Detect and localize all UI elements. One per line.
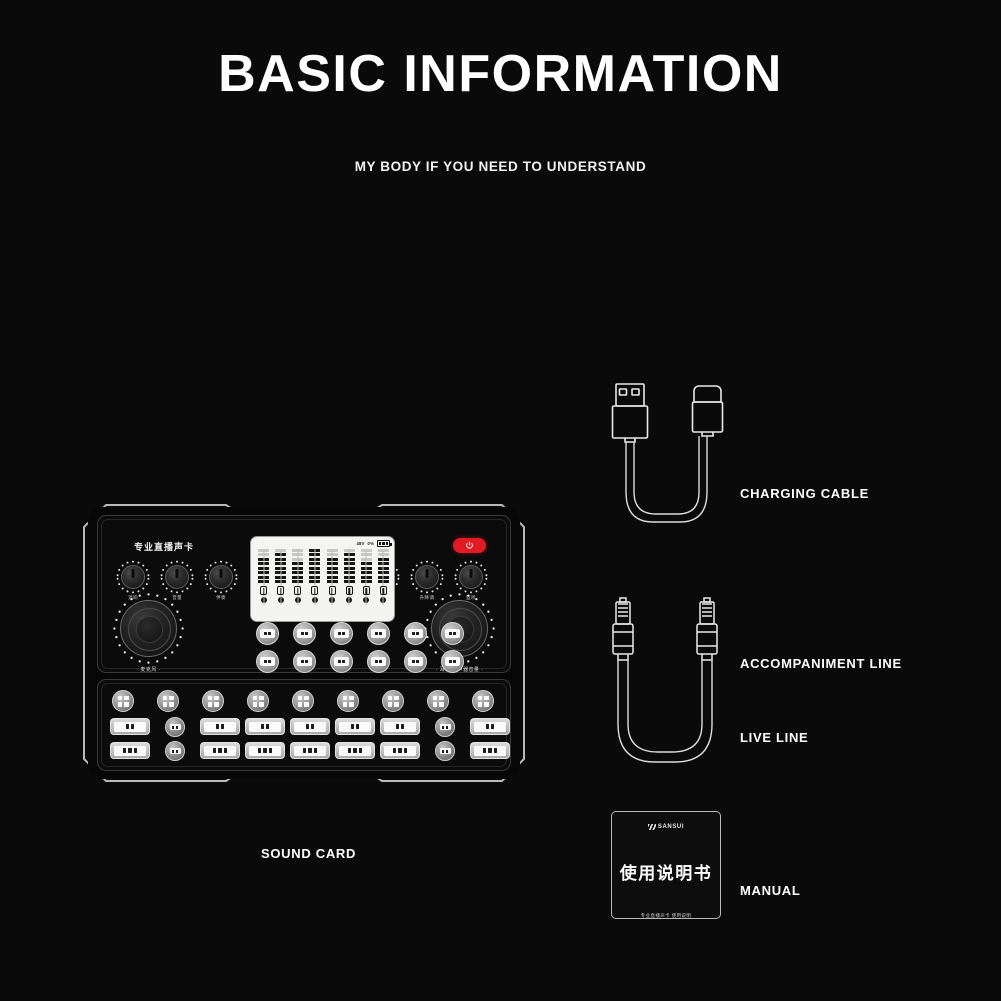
bottom-circle-button[interactable]: [382, 690, 404, 712]
logo-mark-icon: [648, 824, 656, 830]
button-glyph: [298, 696, 303, 701]
pad-glyph: [266, 724, 269, 728]
pad-glyph: [134, 748, 137, 752]
pad-glyph: [305, 660, 307, 663]
pad-glyph: [412, 632, 414, 635]
button-glyph: [176, 726, 178, 729]
knob-cap: [415, 565, 439, 589]
pad-glyph: [261, 724, 264, 728]
jog-knob-cap: [120, 600, 177, 657]
pad-glyph: [269, 748, 272, 752]
pad-glyph: [351, 724, 354, 728]
button-glyph: [442, 726, 444, 729]
lcd-channel-strip: [343, 549, 356, 619]
button-glyph-grid: [118, 696, 129, 707]
cable-path: [626, 436, 707, 522]
pad-glyph: [353, 748, 356, 752]
bottom-circle-button[interactable]: [157, 690, 179, 712]
pad-glyph: [398, 748, 401, 752]
button-glyph: [163, 696, 168, 701]
lcd-fader-track: [314, 549, 315, 605]
pad-glyph: [218, 748, 221, 752]
lcd-fader-handle[interactable]: [329, 586, 336, 595]
sound-card-device: 专业直播声卡: [76, 497, 532, 789]
bottom-rect-pad[interactable]: [290, 742, 330, 759]
bottom-rect-pad[interactable]: [200, 742, 240, 759]
effect-pad-button[interactable]: [441, 622, 464, 645]
button-glyph: [433, 696, 438, 701]
manual-cover-footer: 专业直播声卡 使用说明: [641, 913, 692, 919]
pad-glyph: [488, 748, 491, 752]
jog-knob-label: · 麦克风 ·: [137, 666, 161, 673]
pad-glyph: [379, 660, 381, 663]
pad-face: [297, 629, 312, 638]
pad-glyph: [494, 748, 497, 752]
pad-glyph: [379, 632, 381, 635]
bottom-rect-pad[interactable]: [335, 718, 375, 735]
button-glyph: [124, 696, 129, 701]
pad-face: [294, 722, 326, 732]
button-glyph: [298, 702, 303, 707]
button-glyph: [208, 702, 213, 707]
knob-cap: [121, 565, 145, 589]
pad-face: [445, 657, 460, 666]
pad-glyph: [453, 660, 455, 663]
lcd-channel-strip: [257, 549, 270, 619]
bottom-circle-button[interactable]: [292, 690, 314, 712]
effect-pad-button[interactable]: [404, 650, 427, 673]
knob-accompaniment[interactable]: 伴奏: [204, 560, 238, 594]
manual-label: MANUAL: [740, 883, 801, 898]
manual-cover: SANSUI 使用说明书 专业直播声卡 使用说明: [611, 811, 721, 919]
bottom-rect-pad[interactable]: [290, 718, 330, 735]
charging-cable-label: CHARGING CABLE: [740, 486, 869, 501]
bottom-rect-pad[interactable]: [380, 718, 420, 735]
pad-glyph: [268, 660, 270, 663]
pad-glyph: [348, 748, 351, 752]
button-glyph: [118, 702, 123, 707]
power-icon: [465, 541, 474, 550]
button-glyph-grid: [433, 696, 444, 707]
pad-face: [339, 722, 371, 732]
pad-glyph: [453, 632, 455, 635]
bottom-circle-button[interactable]: [202, 690, 224, 712]
lcd-channel-strips: [257, 549, 390, 619]
sound-card-label: SOUND CARD: [261, 846, 356, 861]
pad-glyph: [311, 724, 314, 728]
button-glyph: [163, 702, 168, 707]
button-glyph: [439, 696, 444, 701]
pad-glyph: [301, 660, 303, 663]
pad-glyph: [486, 724, 489, 728]
lcd-fader-track: [332, 549, 333, 605]
pad-face: [334, 657, 349, 666]
pad-glyph: [123, 748, 126, 752]
bottom-circle-button[interactable]: [337, 690, 359, 712]
pad-face: [371, 657, 386, 666]
button-glyph-grid: [298, 696, 309, 707]
button-glyph: [214, 696, 219, 701]
bottom-small-circle-button[interactable]: [165, 741, 185, 761]
jog-knob-microphone[interactable]: · 麦克风 ·: [112, 592, 185, 665]
button-face: [170, 748, 181, 754]
button-glyph: [446, 726, 448, 729]
lcd-channel-strip: [326, 549, 339, 619]
lcd-fader-track: [263, 549, 264, 605]
pad-face: [408, 629, 423, 638]
pad-glyph: [342, 632, 344, 635]
lcd-fader-handle[interactable]: [363, 586, 370, 595]
bottom-rect-pad[interactable]: [110, 718, 150, 735]
pad-face: [260, 657, 275, 666]
button-glyph: [176, 750, 178, 753]
button-glyph: [388, 702, 393, 707]
bottom-rect-pad[interactable]: [245, 742, 285, 759]
pad-face: [297, 657, 312, 666]
pad-glyph: [375, 632, 377, 635]
knob-cap: [209, 565, 233, 589]
pad-glyph: [416, 660, 418, 663]
knob-reverb[interactable]: 混响: [116, 560, 150, 594]
pad-glyph: [342, 660, 344, 663]
bottom-rect-pad[interactable]: [245, 718, 285, 735]
pad-glyph: [483, 748, 486, 752]
button-glyph: [478, 696, 483, 701]
pad-glyph: [401, 724, 404, 728]
pad-face: [260, 629, 275, 638]
button-glyph: [124, 702, 129, 707]
pad-glyph: [404, 748, 407, 752]
pad-glyph: [221, 724, 224, 728]
button-face: [170, 724, 181, 730]
device-bottom-panel: [97, 679, 511, 771]
page-subtitle: MY BODY IF YOU NEED TO UNDERSTAND: [0, 159, 1001, 174]
button-face: [440, 724, 451, 730]
lcd-channel-strip: [308, 549, 321, 619]
trrs-connector-right: [697, 598, 717, 660]
effect-pad-button[interactable]: [367, 650, 390, 673]
charging-cable-graphic: [596, 372, 738, 532]
button-glyph-grid: [388, 696, 399, 707]
pad-glyph: [224, 748, 227, 752]
button-glyph: [304, 696, 309, 701]
button-glyph: [478, 702, 483, 707]
pad-glyph: [306, 724, 309, 728]
pad-glyph: [131, 724, 134, 728]
bottom-small-circle-button[interactable]: [435, 717, 455, 737]
pad-glyph: [264, 660, 266, 663]
effect-pad-button[interactable]: [330, 650, 353, 673]
button-glyph: [172, 750, 174, 753]
pad-glyph: [301, 632, 303, 635]
button-glyph-grid: [253, 696, 264, 707]
lcd-channel-strip: [377, 549, 390, 619]
lcd-fader-handle[interactable]: [311, 586, 318, 595]
usb-a-connector: [613, 384, 648, 442]
pad-glyph: [126, 724, 129, 728]
pad-glyph: [491, 724, 494, 728]
button-face: [440, 748, 451, 754]
pad-glyph: [338, 660, 340, 663]
pad-glyph: [268, 632, 270, 635]
audio-cable-graphic: [596, 592, 738, 774]
effect-pad-button[interactable]: [293, 650, 316, 673]
effect-pad-button[interactable]: [367, 622, 390, 645]
bottom-rect-pad[interactable]: [110, 742, 150, 759]
bottom-small-circle-button[interactable]: [435, 741, 455, 761]
pad-face: [114, 746, 146, 756]
bottom-rect-pad[interactable]: [200, 718, 240, 735]
pad-glyph: [449, 632, 451, 635]
lcd-status-right: 0%: [368, 541, 374, 546]
button-glyph: [304, 702, 309, 707]
trrs-connector-left: [613, 598, 633, 660]
pad-face: [249, 722, 281, 732]
device-body: 专业直播声卡: [88, 507, 520, 779]
pad-glyph: [356, 724, 359, 728]
pad-glyph: [393, 748, 396, 752]
pad-glyph: [338, 632, 340, 635]
pad-face: [294, 746, 326, 756]
pad-glyph: [303, 748, 306, 752]
pad-face: [371, 629, 386, 638]
button-glyph: [433, 702, 438, 707]
pad-face: [204, 746, 236, 756]
lcd-status-left: 48V: [356, 541, 364, 546]
knob-volume[interactable]: 音量: [160, 560, 194, 594]
knob-pitch[interactable]: 升降调: [410, 560, 444, 594]
button-glyph: [214, 702, 219, 707]
button-glyph: [484, 696, 489, 701]
pad-glyph: [375, 660, 377, 663]
effect-pad-button[interactable]: [441, 650, 464, 673]
lcd-channel-strip: [274, 549, 287, 619]
pad-glyph: [416, 632, 418, 635]
lcd-channel-strip: [291, 549, 304, 619]
bottom-circle-button[interactable]: [472, 690, 494, 712]
bottom-rect-pad[interactable]: [470, 742, 510, 759]
button-glyph: [253, 696, 258, 701]
button-glyph: [394, 702, 399, 707]
pad-glyph: [412, 660, 414, 663]
pad-glyph: [263, 748, 266, 752]
effect-pad-button[interactable]: [256, 650, 279, 673]
accompaniment-line-label: ACCOMPANIMENT LINE: [740, 656, 902, 671]
usb-c-connector: [693, 386, 723, 436]
lcd-display[interactable]: 48V 0%: [250, 536, 395, 622]
manual-graphic: SANSUI 使用说明书 专业直播声卡 使用说明: [611, 811, 721, 919]
knob-cap: [459, 565, 483, 589]
pad-glyph: [308, 748, 311, 752]
lcd-fader-track: [280, 549, 281, 605]
pad-face: [384, 746, 416, 756]
button-glyph: [118, 696, 123, 701]
battery-icon: [377, 540, 390, 547]
button-glyph: [169, 696, 174, 701]
button-glyph: [442, 750, 444, 753]
pad-face: [384, 722, 416, 732]
button-glyph: [208, 696, 213, 701]
bottom-small-circle-button[interactable]: [165, 717, 185, 737]
lcd-fader-handle[interactable]: [346, 586, 353, 595]
manual-cover-title: 使用说明书: [620, 859, 713, 884]
effect-pad-button[interactable]: [293, 622, 316, 645]
button-glyph: [349, 702, 354, 707]
button-glyph: [343, 702, 348, 707]
button-glyph: [484, 702, 489, 707]
button-glyph: [446, 750, 448, 753]
pad-glyph: [216, 724, 219, 728]
button-glyph-grid: [343, 696, 354, 707]
device-brand-text: 专业直播声卡: [134, 540, 194, 553]
pad-face: [204, 722, 236, 732]
pad-face: [114, 722, 146, 732]
knob-cap: [165, 565, 189, 589]
pad-face: [474, 746, 506, 756]
lcd-fader-track: [297, 549, 298, 605]
bottom-circle-button[interactable]: [112, 690, 134, 712]
pad-glyph: [258, 748, 261, 752]
manual-brand-logo: SANSUI: [648, 824, 684, 830]
cable-path: [618, 660, 712, 762]
button-glyph: [172, 726, 174, 729]
effect-pad-button[interactable]: [256, 622, 279, 645]
effect-pad-button[interactable]: [330, 622, 353, 645]
lcd-fader-handle[interactable]: [294, 586, 301, 595]
button-glyph: [259, 696, 264, 701]
button-glyph-grid: [208, 696, 219, 707]
lcd-fader-handle[interactable]: [260, 586, 267, 595]
page-title: BASIC INFORMATION: [0, 44, 1001, 104]
pad-glyph: [359, 748, 362, 752]
button-glyph-grid: [478, 696, 489, 707]
bottom-rect-pad[interactable]: [470, 718, 510, 735]
pad-face: [408, 657, 423, 666]
button-glyph: [259, 702, 264, 707]
button-glyph: [343, 696, 348, 701]
lcd-fader-track: [383, 549, 384, 605]
lcd-status-bar: 48V 0%: [356, 540, 390, 547]
bottom-rect-pad[interactable]: [335, 742, 375, 759]
live-line-label: LIVE LINE: [740, 730, 808, 745]
lcd-fader-track: [349, 549, 350, 605]
device-top-panel: 专业直播声卡: [97, 515, 511, 673]
manual-logo-text: SANSUI: [658, 824, 684, 830]
knob-label: 伴奏: [216, 595, 226, 601]
pad-glyph: [264, 632, 266, 635]
button-glyph: [349, 696, 354, 701]
lcd-fader-handle[interactable]: [277, 586, 284, 595]
button-glyph: [439, 702, 444, 707]
lcd-channel-strip: [360, 549, 373, 619]
pad-glyph: [213, 748, 216, 752]
button-glyph: [169, 702, 174, 707]
pad-glyph: [314, 748, 317, 752]
lcd-fader-handle[interactable]: [380, 586, 387, 595]
button-glyph: [394, 696, 399, 701]
button-glyph: [253, 702, 258, 707]
pad-face: [334, 629, 349, 638]
effect-pad-button[interactable]: [404, 622, 427, 645]
pad-face: [339, 746, 371, 756]
knob-monitor[interactable]: 监听: [454, 560, 488, 594]
power-button[interactable]: [453, 538, 486, 553]
bottom-rect-pad[interactable]: [380, 742, 420, 759]
button-glyph: [388, 696, 393, 701]
bottom-circle-button[interactable]: [427, 690, 449, 712]
pad-face: [445, 629, 460, 638]
pad-glyph: [396, 724, 399, 728]
pad-glyph: [305, 632, 307, 635]
lcd-fader-track: [366, 549, 367, 605]
pad-face: [249, 746, 281, 756]
bottom-circle-button[interactable]: [247, 690, 269, 712]
button-glyph-grid: [163, 696, 174, 707]
pad-glyph: [449, 660, 451, 663]
pad-face: [474, 722, 506, 732]
pad-glyph: [128, 748, 131, 752]
